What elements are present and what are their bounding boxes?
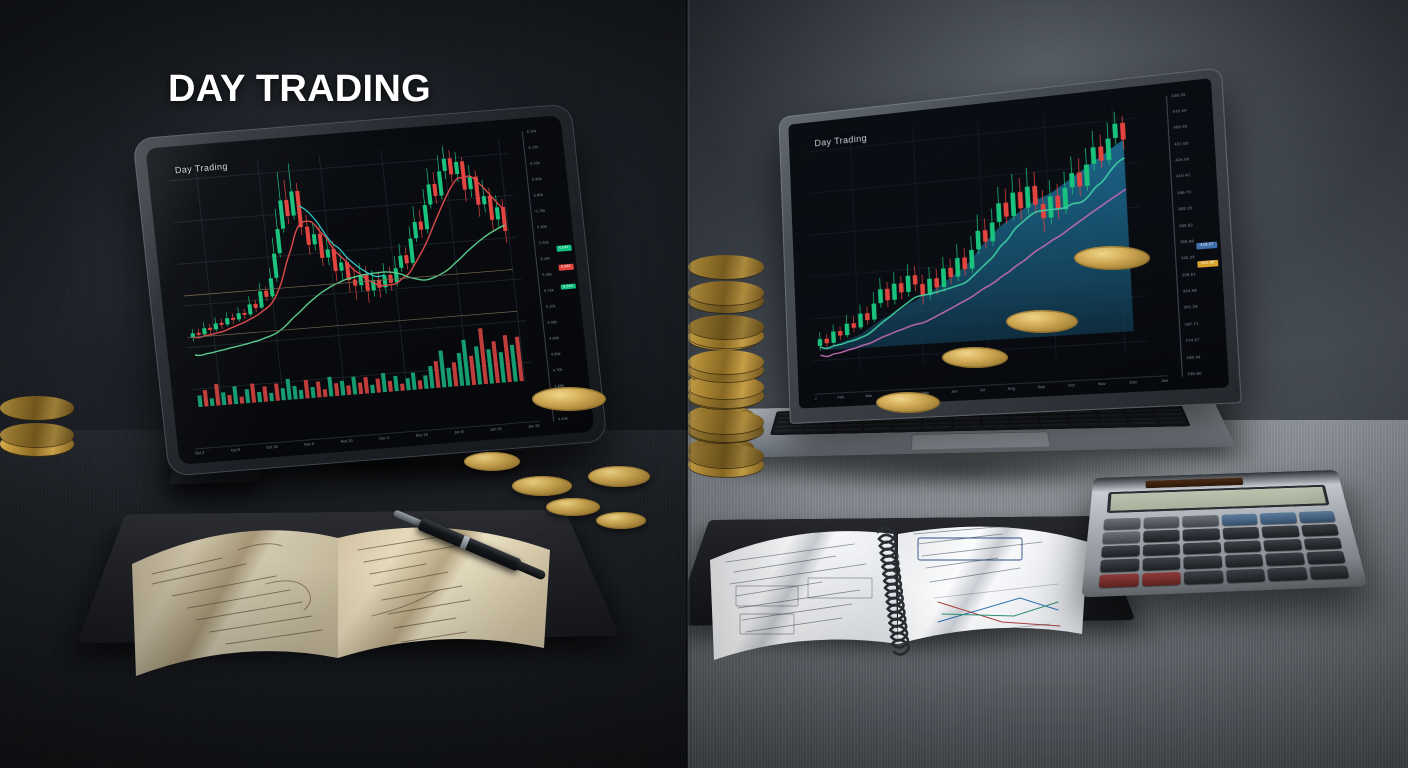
price-tick: 5.60k	[537, 226, 547, 230]
tablet-price-badges: 6.0425.9886.015	[145, 115, 560, 148]
time-tick: May	[921, 391, 929, 399]
keyboard-key[interactable]	[834, 428, 862, 432]
keyboard-key[interactable]	[1100, 423, 1128, 427]
price-tick: 410.42	[1176, 174, 1190, 179]
price-tick: 383.15	[1178, 207, 1192, 212]
time-tick: Nov 20	[341, 439, 354, 447]
keyboard-key[interactable]	[953, 421, 980, 425]
price-tick: 5.80k	[534, 194, 544, 198]
calculator-key[interactable]	[1263, 539, 1302, 552]
calculator-key[interactable]	[1100, 559, 1139, 573]
laptop-device: Day Trading	[745, 112, 1215, 484]
notebook-pages	[126, 498, 566, 688]
price-tick: 6.20k	[527, 130, 537, 134]
price-tick: 369.52	[1179, 224, 1193, 229]
keyboard-key[interactable]	[1154, 409, 1182, 413]
keyboard-key[interactable]	[1127, 414, 1155, 418]
calculator-key[interactable]	[1226, 569, 1266, 583]
keyboard-key[interactable]	[894, 427, 922, 431]
keyboard-key[interactable]	[1099, 418, 1127, 422]
calculator-key[interactable]	[1261, 525, 1299, 538]
calculator-key[interactable]	[1265, 553, 1305, 566]
calculator[interactable]	[1081, 470, 1367, 597]
calculator-display	[1107, 485, 1330, 513]
price-tick: 437.69	[1174, 142, 1188, 147]
price-tick: 424.06	[1175, 158, 1189, 163]
calculator-key[interactable]	[1298, 511, 1336, 523]
laptop-price-axis: 636.35479.34465.90437.69424.06410.42396.…	[1166, 91, 1226, 378]
calculator-key[interactable]	[1142, 557, 1180, 571]
keyboard-key[interactable]	[804, 429, 832, 433]
calculator-key[interactable]	[1260, 512, 1297, 524]
calculator-key[interactable]	[1223, 540, 1261, 553]
laptop-price-badges: 418.27401.55	[788, 78, 1211, 125]
panel-long-term-investing: Day Trading	[688, 0, 1408, 768]
time-tick: Jan 8	[454, 430, 464, 438]
price-tick: 246.80	[1187, 372, 1201, 377]
panel-divider	[686, 0, 691, 768]
keyboard-key[interactable]	[924, 422, 951, 426]
price-tick: 6.10k	[528, 146, 538, 150]
keyboard-key[interactable]	[1071, 423, 1099, 427]
calculator-key[interactable]	[1267, 567, 1307, 581]
keyboard-key[interactable]	[864, 428, 892, 432]
keyboard-key[interactable]	[1128, 418, 1156, 422]
keyboard-key[interactable]	[953, 417, 980, 421]
time-tick: Oct 9	[231, 448, 241, 456]
time-tick: Dec 4	[379, 436, 390, 444]
time-tick: Jan 15	[490, 427, 502, 435]
price-tick: 465.90	[1173, 126, 1187, 131]
keyboard-key[interactable]	[1069, 415, 1097, 419]
keyboard-key[interactable]	[1041, 420, 1069, 424]
calculator-key[interactable]	[1224, 554, 1263, 568]
coin	[0, 396, 74, 420]
open-notebook	[126, 498, 566, 688]
price-tick: 5.90k	[532, 178, 542, 182]
price-tick: 4.70k	[553, 369, 563, 373]
keyboard-key[interactable]	[774, 429, 803, 433]
keyboard-key[interactable]	[894, 423, 922, 427]
time-tick: Dec 18	[416, 433, 429, 441]
keyboard-key[interactable]	[982, 417, 1009, 421]
laptop-trackpad[interactable]	[911, 432, 1051, 451]
price-tick: 4.90k	[549, 337, 559, 341]
calculator-key[interactable]	[1142, 543, 1180, 556]
keyboard-key[interactable]	[924, 418, 951, 422]
time-tick: J	[815, 396, 817, 403]
time-tick: Dec	[1129, 380, 1137, 388]
price-tick: 5.30k	[542, 273, 552, 277]
panel-day-trading: Day Trading	[0, 0, 688, 768]
price-tick: 5.00k	[548, 321, 558, 325]
price-tick: 479.34	[1172, 109, 1186, 114]
calculator-key[interactable]	[1183, 528, 1220, 541]
calculator-key[interactable]	[1222, 527, 1260, 540]
keyboard-key[interactable]	[982, 421, 1010, 425]
keyboard-key[interactable]	[1011, 416, 1038, 420]
price-tick: 396.79	[1177, 191, 1191, 196]
time-tick: Feb	[838, 395, 845, 402]
time-tick: Nov 6	[304, 442, 315, 450]
keyboard-key[interactable]	[805, 424, 833, 428]
keyboard-key[interactable]	[1041, 424, 1069, 428]
laptop-chart-canvas	[788, 78, 1229, 408]
calculator-key[interactable]	[1303, 537, 1342, 550]
calculator-key[interactable]	[1306, 551, 1346, 564]
tablet-chart-label: Day Trading	[174, 161, 228, 175]
comparison-graphic: Day Trading	[0, 0, 1408, 768]
time-tick: Oct 2	[195, 451, 205, 459]
keyboard-key[interactable]	[1012, 424, 1040, 428]
price-tick: 260.44	[1186, 356, 1200, 361]
keyboard-key[interactable]	[1012, 420, 1040, 424]
calculator-key[interactable]	[1183, 542, 1221, 555]
keyboard-key[interactable]	[775, 425, 803, 429]
price-tick: 287.71	[1185, 322, 1199, 327]
price-tick: 636.35	[1172, 93, 1186, 98]
price-tick: 301.34	[1184, 306, 1198, 311]
calculator-solar-panel	[1146, 478, 1244, 489]
price-tick: 5.20k	[544, 289, 554, 293]
price-tick: 328.61	[1182, 273, 1196, 278]
time-tick: Apr	[894, 392, 900, 399]
calculator-key[interactable]	[1184, 570, 1223, 584]
keyboard-key[interactable]	[1157, 417, 1185, 421]
laptop-lid: Day Trading	[778, 67, 1241, 424]
calculator-keypad[interactable]	[1099, 511, 1350, 588]
time-tick: Oct 16	[266, 445, 278, 453]
keyboard-key[interactable]	[835, 424, 863, 428]
time-tick: Jul	[980, 388, 986, 396]
keyboard-key[interactable]	[1098, 414, 1126, 418]
calculator-key[interactable]	[1103, 518, 1140, 530]
spiral-notebook-pages	[702, 498, 1102, 678]
laptop-time-axis: JFebMarAprMayJunJulAugSepOctNovDecJan	[814, 375, 1168, 404]
calculator-key[interactable]	[1143, 529, 1180, 542]
keyboard-key[interactable]	[864, 423, 892, 427]
keyboard-key[interactable]	[1158, 421, 1186, 425]
keyboard-key[interactable]	[1129, 422, 1157, 426]
keyboard-key[interactable]	[1040, 415, 1068, 419]
calculator-key[interactable]	[1102, 531, 1139, 544]
keyboard-key[interactable]	[1068, 411, 1095, 415]
calculator-key[interactable]	[1221, 514, 1258, 526]
time-tick: Aug	[1007, 386, 1015, 394]
calculator-key[interactable]	[1182, 515, 1218, 527]
calculator-key[interactable]	[1143, 516, 1179, 528]
calculator-key[interactable]	[1101, 545, 1139, 558]
coin-stack	[530, 378, 606, 458]
price-tick: 5.10k	[546, 305, 556, 309]
laptop-screen[interactable]: Day Trading	[788, 78, 1229, 408]
time-tick: Nov	[1098, 381, 1106, 389]
calculator-key[interactable]	[1099, 574, 1139, 588]
price-tick: 342.25	[1181, 256, 1195, 261]
time-tick: Jan	[1161, 378, 1168, 386]
price-tick: 274.07	[1186, 339, 1200, 344]
time-tick: Oct	[1068, 383, 1075, 391]
keyboard-key[interactable]	[983, 425, 1011, 429]
keyboard-key[interactable]	[1155, 413, 1183, 417]
calculator-key[interactable]	[1300, 524, 1338, 536]
laptop-chart-label: Day Trading	[814, 133, 867, 148]
keyboard-key[interactable]	[953, 426, 981, 430]
price-tick: 314.98	[1183, 289, 1197, 294]
tablet-screen[interactable]: Day Trading	[145, 115, 594, 465]
keyboard-key[interactable]	[1070, 419, 1098, 423]
time-tick: Sep	[1038, 384, 1046, 392]
price-tick: 5.50k	[539, 242, 549, 246]
price-tick: 5.40k	[541, 258, 551, 262]
keyboard-key[interactable]	[1097, 410, 1125, 414]
calculator-key[interactable]	[1183, 556, 1222, 570]
time-tick: Jun	[951, 389, 958, 397]
price-tick: 4.80k	[551, 353, 561, 357]
price-tick: 6.00k	[530, 162, 540, 166]
price-tick: 5.70k	[535, 210, 545, 214]
price-tick: 355.88	[1180, 240, 1194, 245]
time-tick: Mar	[865, 393, 872, 400]
calculator-key[interactable]	[1142, 572, 1181, 586]
spiral-notebook	[702, 498, 1102, 678]
calculator-key[interactable]	[1309, 566, 1350, 580]
keyboard-key[interactable]	[923, 426, 951, 430]
keyboard-key[interactable]	[1125, 409, 1153, 413]
page-title-left: DAY TRADING	[168, 68, 431, 111]
